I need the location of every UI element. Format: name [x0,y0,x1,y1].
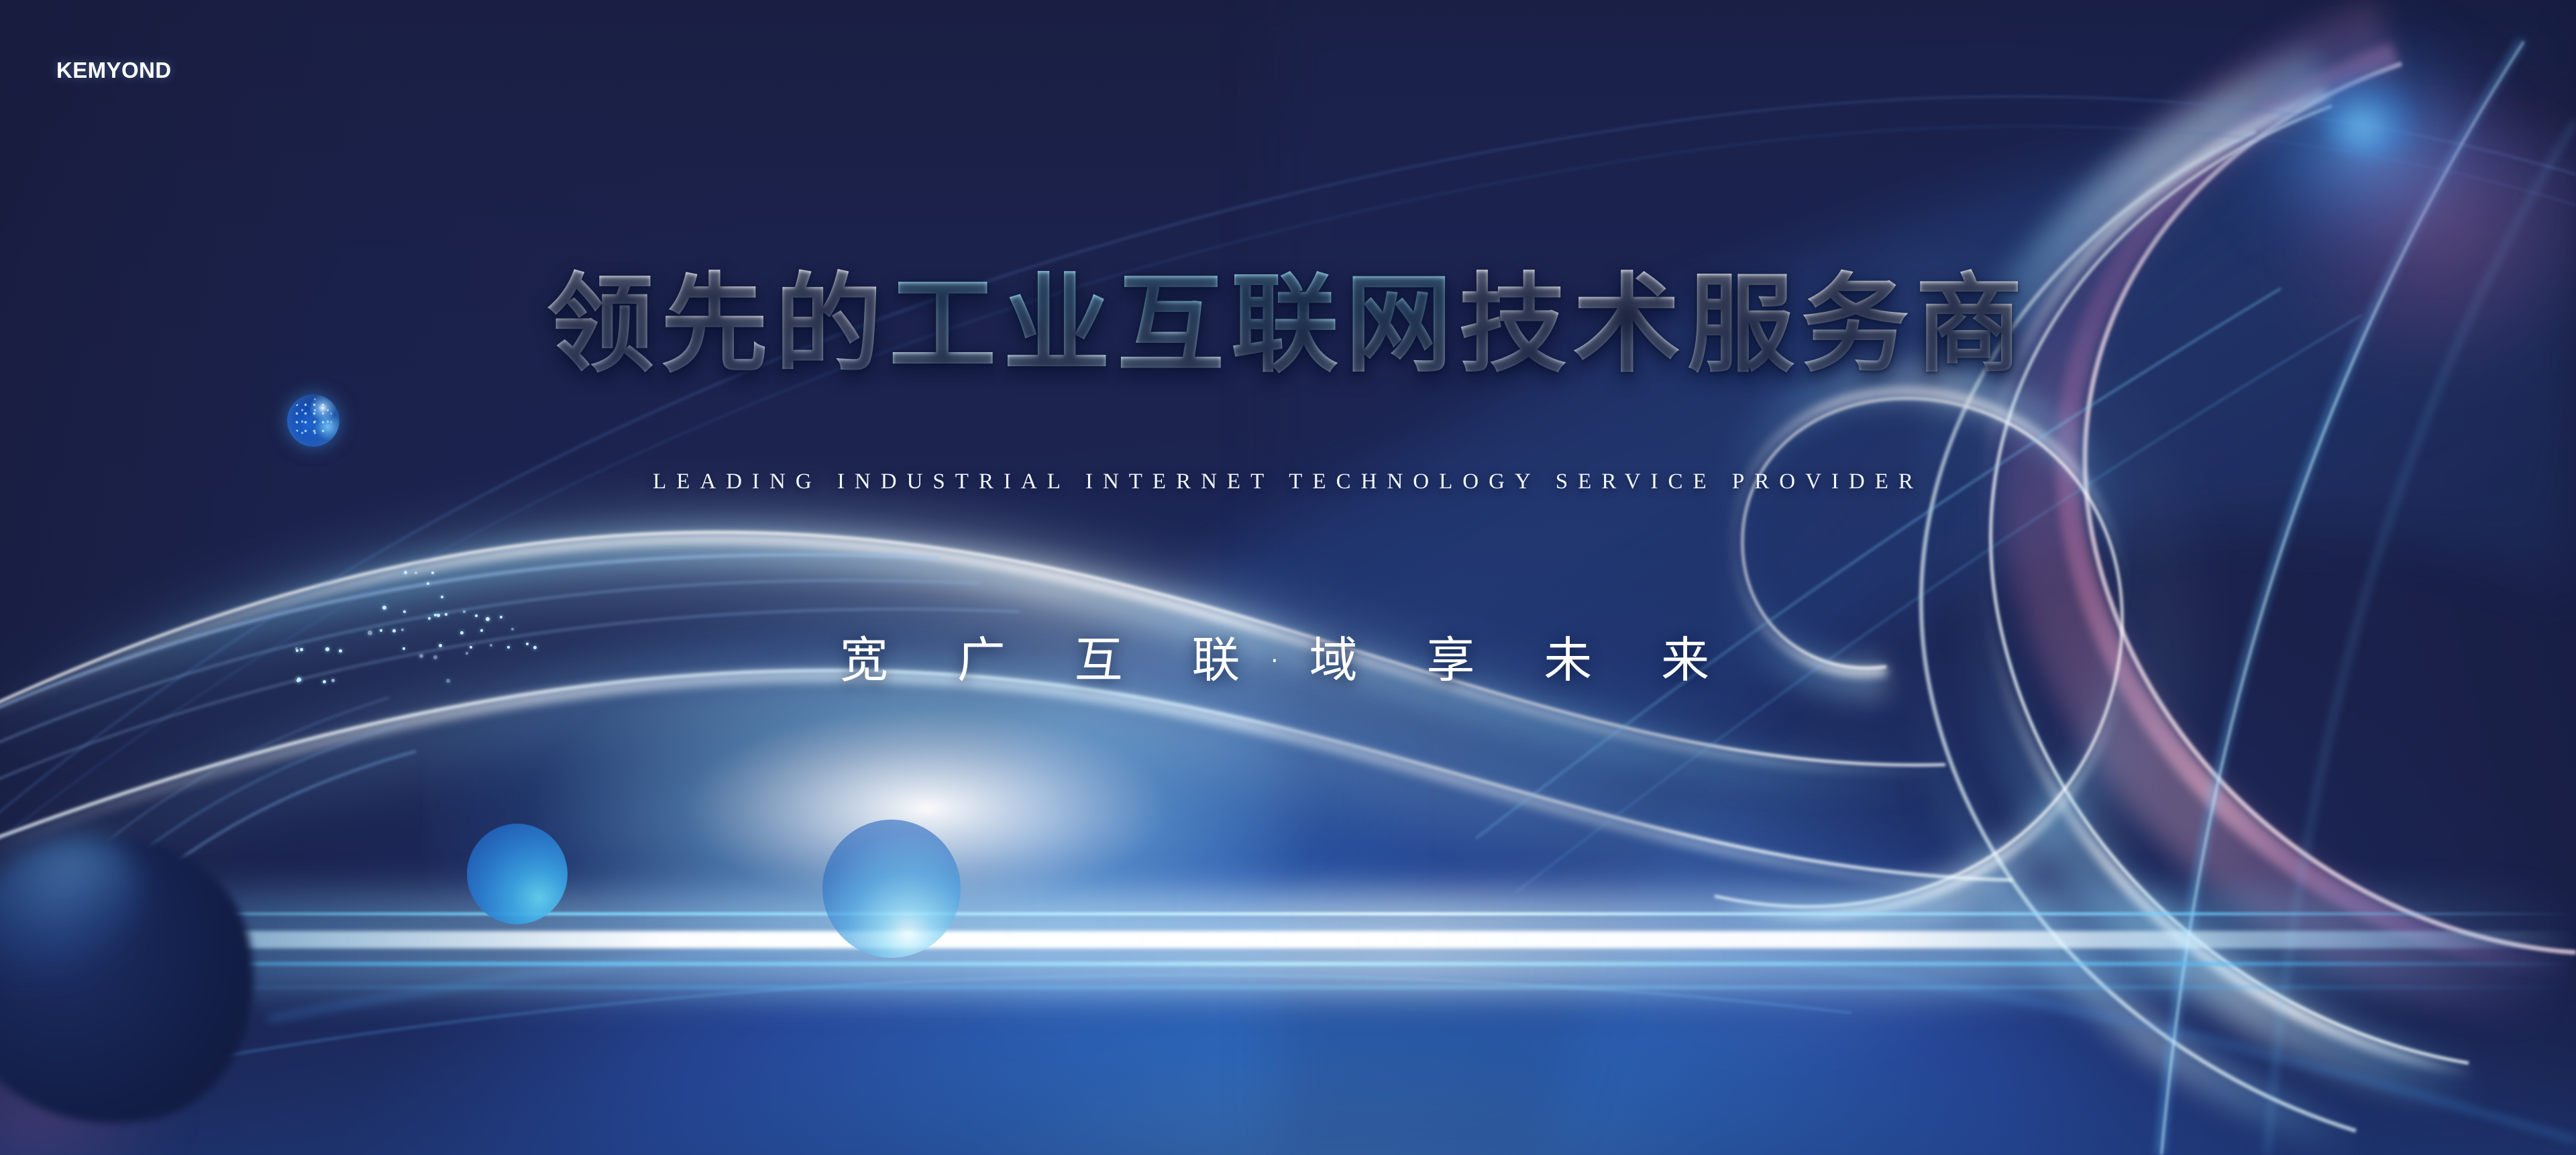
particle [463,610,466,613]
tagline: 宽 广 互 联·域 享 未 来 [0,620,2576,691]
headline-block: 领先的工业互联网技术服务商 [0,271,2576,378]
page-title: 领先的工业互联网技术服务商 [547,271,2029,378]
particle [427,582,429,585]
particle [437,614,440,617]
particle [415,571,417,574]
particle [441,596,443,598]
tagline-separator: · [1267,632,1309,688]
headline-segment-lead: 领先的 [547,264,889,384]
particle-field [0,0,2576,1155]
particle [445,613,447,616]
banner-canvas: KEMYOND 领先的工业互联网技术服务商 LEADING INDUSTRIAL… [0,0,2576,1155]
particle [428,617,431,620]
particle [404,571,407,574]
particle [475,614,478,617]
particle [431,571,434,574]
particle [382,606,386,610]
particle [500,616,502,618]
particle [403,610,406,613]
subheadline: LEADING INDUSTRIAL INTERNET TECHNOLOGY S… [0,470,2576,494]
tagline-right: 域 享 未 来 [1309,632,1736,688]
headline-segment-tail: 技术服务商 [1459,264,2029,384]
headline-segment-accent: 工业互联网 [889,264,1459,384]
brand-logo[interactable]: KEMYOND [56,58,171,83]
tagline-left: 宽 广 互 联 [840,632,1267,688]
